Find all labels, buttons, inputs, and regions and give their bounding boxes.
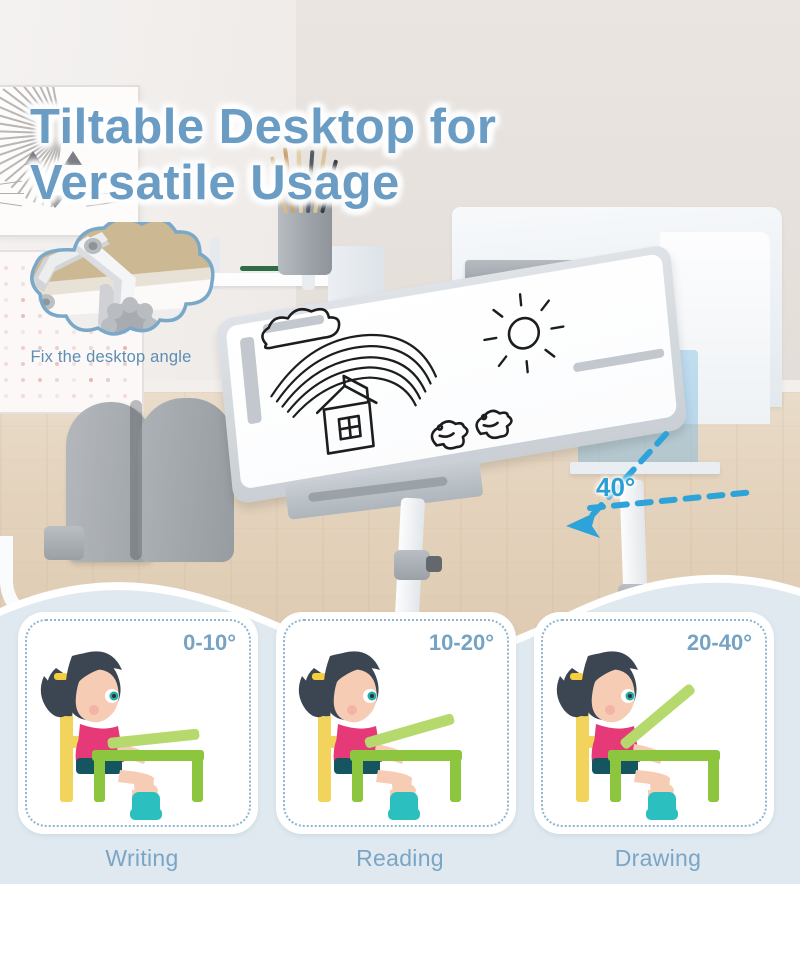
product-photo-scene: 40° Tiltable Desktop for Versatile Usage	[0, 0, 800, 640]
tilt-angle-label: 40°	[596, 472, 635, 503]
angle-range-label: 20-40°	[687, 630, 752, 656]
desk-tilt-surface	[107, 728, 200, 749]
tilt-mode-card-reading[interactable]: 10-20°	[276, 612, 524, 877]
kids-study-desk	[230, 180, 800, 620]
desk-tilt-surface	[364, 713, 455, 749]
girl-at-desk-icon	[32, 640, 244, 822]
callout-cloud-bubble	[14, 222, 224, 346]
page-title: Tiltable Desktop for Versatile Usage	[30, 99, 630, 211]
tilt-modes-card-list: 0-10°	[0, 612, 800, 877]
angle-range-label: 0-10°	[183, 630, 236, 656]
callout-caption: Fix the desktop angle	[6, 348, 216, 367]
ergonomic-chair	[66, 398, 241, 588]
angle-range-label: 10-20°	[429, 630, 494, 656]
mode-caption: Writing	[18, 845, 266, 872]
product-feature-image: 40° Tiltable Desktop for Versatile Usage	[0, 0, 800, 977]
tilt-mode-card-drawing[interactable]: 20-40°	[534, 612, 782, 877]
headline-line-1: Tiltable Desktop for	[30, 99, 630, 155]
girl-at-desk-icon	[290, 640, 502, 822]
tilt-angle-indicator	[548, 430, 778, 550]
mode-caption: Reading	[276, 845, 524, 872]
mode-caption: Drawing	[534, 845, 782, 872]
tilt-mode-card-writing[interactable]: 0-10°	[18, 612, 266, 877]
hinge-photo	[14, 222, 224, 346]
headline-line-2: Versatile Usage	[30, 155, 630, 211]
girl-at-desk-icon	[548, 640, 760, 822]
